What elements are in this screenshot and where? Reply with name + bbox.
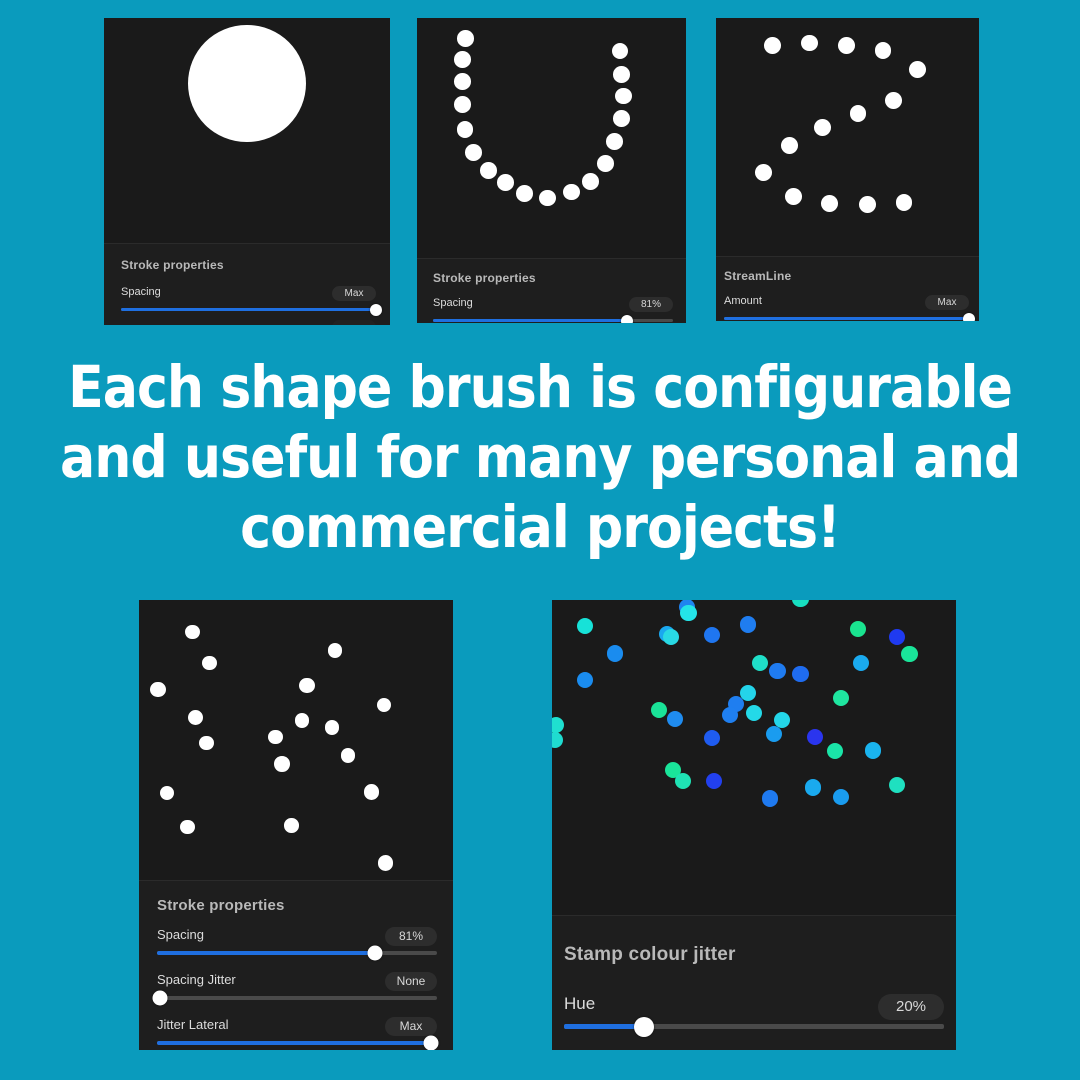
brush-stamp-dot: [274, 756, 290, 772]
slider-row-jitter-lateral[interactable]: Jitter Lateral Max: [157, 1017, 437, 1047]
brush-stamp-dot: [766, 726, 782, 742]
brush-stamp-dot: [651, 702, 667, 718]
brush-stamp-dot: [202, 656, 216, 670]
slider-value-badge: 20%: [878, 994, 944, 1020]
brush-stamp-dot: [150, 682, 166, 698]
headline-line-1: Each shape brush is configurable: [60, 352, 1020, 422]
brush-stamp-dot: [612, 43, 629, 60]
stroke-properties-section: Stroke properties Spacing 81%: [417, 258, 686, 323]
slider-value-badge: Max: [925, 295, 969, 310]
brush-stamp-dot: [807, 729, 823, 745]
brush-stamp-dot: [457, 30, 474, 47]
brush-stamp-dot: [889, 629, 905, 645]
brush-stamp-dot: [821, 195, 838, 212]
slider-thumb[interactable]: [152, 991, 167, 1006]
brush-stamp-dot: [457, 121, 474, 138]
brush-canvas[interactable]: [417, 18, 686, 258]
slider-value-badge-partial: [332, 320, 376, 325]
slider-row-spacing[interactable]: Spacing 81%: [433, 297, 673, 323]
brush-stamp-dot: [552, 732, 563, 748]
brush-stamp-dot: [516, 185, 533, 202]
brush-stamp-dot: [454, 73, 471, 90]
section-title: Stroke properties: [121, 258, 224, 272]
slider-thumb[interactable]: [963, 313, 975, 322]
brush-stamp-dot: [838, 37, 855, 54]
brush-stamp-dot: [377, 698, 391, 712]
slider-value-badge: None: [385, 972, 437, 991]
brush-stamp-dot: [762, 790, 778, 806]
section-title: StreamLine: [724, 269, 791, 283]
brush-stamp-dot: [454, 51, 471, 68]
brush-stamp-dot: [454, 96, 471, 113]
brush-stamp-dot: [805, 779, 821, 795]
slider-track[interactable]: [564, 1024, 944, 1029]
brush-stamp-dot: [497, 174, 514, 191]
brush-stamp-dot: [885, 92, 902, 109]
brush-stamp-dot: [764, 37, 781, 54]
slider-fill: [157, 951, 375, 955]
brush-stamp-dot: [769, 663, 785, 679]
brush-stamp-dot: [706, 773, 722, 789]
brush-stamp-dot: [615, 88, 632, 105]
stamp-colour-jitter-section: Stamp colour jitter Hue 20%: [552, 915, 956, 1050]
brush-stamp-dot: [722, 707, 738, 723]
brush-stamp-dot: [325, 720, 339, 734]
slider-label: Jitter Lateral: [157, 1017, 229, 1032]
slider-label: Spacing: [157, 927, 204, 942]
slider-label: Spacing: [121, 286, 161, 298]
brush-stamp-dot: [180, 820, 194, 834]
slider-label: Amount: [724, 295, 762, 307]
slider-value-badge: 81%: [629, 297, 673, 312]
brush-stamp-dot: [582, 173, 599, 190]
brush-stamp-dot: [785, 188, 802, 205]
slider-track[interactable]: [121, 308, 376, 311]
brush-stamp-dot: [465, 144, 482, 161]
brush-stamp-dot: [889, 777, 905, 793]
slider-row-spacing[interactable]: Spacing Max: [121, 286, 376, 314]
brush-canvas[interactable]: [716, 18, 979, 256]
brush-stamp-dot: [875, 42, 892, 59]
slider-label: Hue: [564, 994, 595, 1014]
poster-stage: Stroke properties Spacing Max Stroke pro…: [0, 0, 1080, 1080]
brush-stamp-dot: [480, 162, 497, 179]
brush-stamp-dot: [539, 190, 556, 207]
brush-stamp-dot: [859, 196, 876, 213]
brush-stamp-dot: [378, 855, 394, 871]
slider-label: Spacing Jitter: [157, 972, 236, 987]
brush-canvas[interactable]: [104, 18, 390, 243]
brush-stamp-dot: [199, 736, 213, 750]
brush-stamp-dot: [160, 786, 174, 800]
brush-stamp-dot: [563, 184, 580, 201]
brush-panel-single-stamp: Stroke properties Spacing Max: [104, 18, 390, 325]
slider-track[interactable]: [433, 319, 673, 322]
brush-stamp-dot: [792, 600, 808, 607]
stroke-properties-section: Stroke properties Spacing Max: [104, 243, 390, 325]
slider-value-badge: Max: [332, 286, 376, 301]
slider-fill: [564, 1024, 644, 1029]
brush-stamp-dot: [792, 666, 808, 682]
brush-stamp-dot: [328, 643, 342, 657]
slider-fill: [433, 319, 627, 322]
brush-stamp-dot: [801, 35, 818, 52]
brush-stamp-dot: [850, 621, 866, 637]
streamline-section: StreamLine Amount Max: [716, 256, 979, 321]
brush-panel-spacing-jitter: Stroke properties Spacing 81% Spacing Ji…: [139, 600, 453, 1050]
brush-stamp-dot: [667, 711, 683, 727]
slider-thumb[interactable]: [370, 304, 382, 316]
brush-stamp-dot: [781, 137, 798, 154]
brush-stamp-dot: [607, 645, 623, 661]
brush-stamp-dot: [597, 155, 614, 172]
slider-row-hue[interactable]: Hue 20%: [564, 994, 944, 1028]
brush-stamp-dot: [364, 784, 380, 800]
headline-line-3: commercial projects!: [60, 492, 1020, 562]
brush-stamp-dot: [295, 713, 309, 727]
brush-stamp-dot: [833, 690, 849, 706]
brush-stamp-dot: [901, 646, 917, 662]
brush-stamp-dot: [909, 61, 926, 78]
section-title: Stroke properties: [433, 271, 536, 285]
brush-stamp-dot: [613, 110, 630, 127]
brush-stamp-dot: [188, 710, 204, 726]
slider-fill: [121, 308, 376, 311]
slider-row-spacing-jitter[interactable]: Spacing Jitter None: [157, 972, 437, 1002]
brush-panel-colour-jitter: Stamp colour jitter Hue 20%: [552, 600, 956, 1050]
brush-stamp-dot: [188, 25, 305, 142]
brush-stamp-dot: [740, 616, 756, 632]
slider-value-badge: 81%: [385, 927, 437, 946]
brush-canvas[interactable]: [552, 600, 956, 915]
slider-label-partial: [121, 320, 124, 325]
brush-stamp-dot: [853, 655, 869, 671]
brush-stamp-dot: [850, 105, 867, 122]
slider-row-amount[interactable]: Amount Max: [724, 295, 969, 321]
brush-stamp-dot: [755, 164, 772, 181]
slider-thumb[interactable]: [634, 1017, 654, 1037]
section-title: Stamp colour jitter: [564, 944, 736, 966]
brush-stamp-dot: [814, 119, 831, 136]
slider-row-spacing[interactable]: Spacing 81%: [157, 927, 437, 957]
slider-fill: [157, 1041, 431, 1045]
brush-stamp-dot: [752, 655, 768, 671]
brush-stamp-dot: [663, 629, 679, 645]
slider-track[interactable]: [157, 996, 437, 1000]
brush-panel-u-curve: Stroke properties Spacing 81%: [417, 18, 686, 323]
brush-canvas[interactable]: [139, 600, 453, 880]
brush-stamp-dot: [299, 678, 315, 694]
brush-stamp-dot: [341, 748, 355, 762]
brush-stamp-dot: [704, 627, 720, 643]
brush-stamp-dot: [606, 133, 623, 150]
stroke-properties-section: Stroke properties Spacing 81% Spacing Ji…: [139, 880, 453, 1050]
brush-stamp-dot: [896, 194, 913, 211]
brush-panel-streamline: StreamLine Amount Max: [716, 18, 979, 321]
brush-stamp-dot: [865, 742, 881, 758]
section-title: Stroke properties: [157, 897, 285, 914]
slider-row-partial[interactable]: [121, 320, 376, 325]
brush-stamp-dot: [833, 789, 849, 805]
slider-thumb[interactable]: [621, 315, 633, 324]
slider-fill: [724, 317, 969, 320]
slider-track[interactable]: [157, 951, 437, 955]
slider-value-badge: Max: [385, 1017, 437, 1036]
headline-line-2: and useful for many personal and: [60, 422, 1020, 492]
brush-stamp-dot: [577, 618, 593, 634]
slider-thumb[interactable]: [368, 946, 383, 961]
brush-stamp-dot: [704, 730, 720, 746]
brush-stamp-dot: [552, 717, 564, 733]
brush-stamp-dot: [284, 818, 298, 832]
brush-stamp-dot: [680, 605, 696, 621]
brush-stamp-dot: [185, 625, 199, 639]
slider-track[interactable]: [724, 317, 969, 320]
slider-thumb[interactable]: [424, 1036, 439, 1051]
slider-label: Spacing: [433, 297, 473, 309]
brush-stamp-dot: [268, 730, 282, 744]
brush-stamp-dot: [675, 773, 691, 789]
brush-stamp-dot: [613, 66, 630, 83]
brush-stamp-dot: [827, 743, 843, 759]
brush-stamp-dot: [746, 705, 762, 721]
slider-track[interactable]: [157, 1041, 437, 1045]
headline: Each shape brush is configurable and use…: [60, 352, 1020, 562]
brush-stamp-dot: [577, 672, 593, 688]
